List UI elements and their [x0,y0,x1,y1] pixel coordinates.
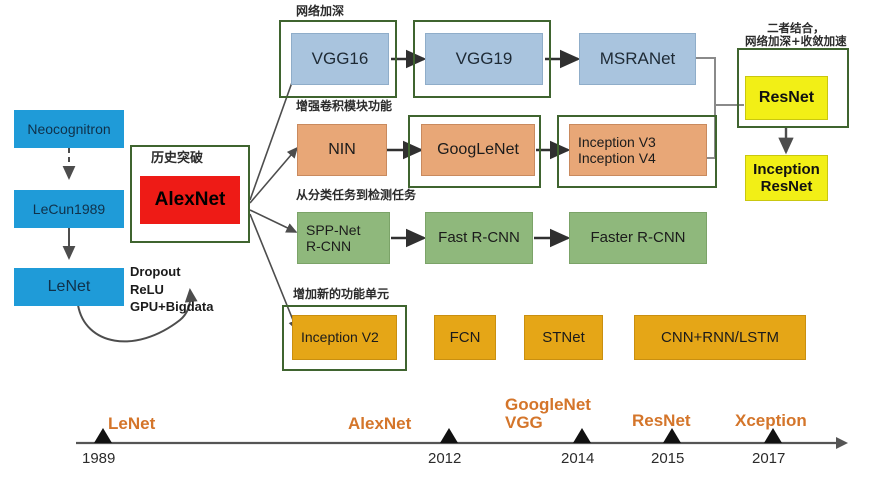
node-faster-rcnn[interactable]: Faster R-CNN [569,212,707,264]
node-neocognitron[interactable]: Neocognitron [14,110,124,148]
node-spp-net-rcnn[interactable]: SPP-Net R-CNN [297,212,390,264]
timeline-year-2014: 2014 [561,450,594,467]
timeline-axis-arrowhead [836,437,848,449]
node-lenet[interactable]: LeNet [14,268,124,306]
timeline-year-2015: 2015 [651,450,684,467]
node-cnn-rnn-lstm[interactable]: CNN+RNN/LSTM [634,315,806,360]
node-stnet[interactable]: STNet [524,315,603,360]
timeline-label-resnet: ResNet [632,412,691,430]
node-vgg16[interactable]: VGG16 [291,33,389,85]
branch-label-detection: 从分类任务到检测任务 [296,189,416,203]
node-msranet[interactable]: MSRANet [579,33,696,85]
branch-label-new-units: 增加新的功能单元 [293,288,389,302]
node-googlenet[interactable]: GoogLeNet [421,124,535,176]
timeline-marker-2012 [440,428,458,443]
node-alexnet[interactable]: AlexNet [140,176,240,224]
diagram-canvas: 网络加深 增强卷积模块功能 从分类任务到检测任务 增加新的功能单元 历史突破 二… [0,0,878,478]
group-label-historic-breakthrough: 历史突破 [151,152,203,167]
node-fast-rcnn[interactable]: Fast R-CNN [425,212,533,264]
node-inception-resnet[interactable]: Inception ResNet [745,155,828,201]
timeline-year-2012: 2012 [428,450,461,467]
timeline-label-alexnet: AlexNet [348,415,411,433]
branch-label-conv-module: 增强卷积模块功能 [296,100,392,114]
node-vgg19[interactable]: VGG19 [425,33,543,85]
timeline-label-lenet: LeNet [108,415,155,433]
timeline-marker-2017 [764,428,782,443]
timeline-year-2017: 2017 [752,450,785,467]
node-fcn[interactable]: FCN [434,315,496,360]
node-resnet[interactable]: ResNet [745,76,828,120]
timeline-marker-2015 [663,428,681,443]
annotation-combination: 二者结合， 网络加深+收敛加速 [745,22,847,48]
arrow-alexnet-nin [250,148,297,203]
node-nin[interactable]: NIN [297,124,387,176]
node-inception-v2[interactable]: Inception V2 [292,315,397,360]
timeline-label-xception: Xception [735,412,807,430]
branch-label-deepening: 网络加深 [296,5,344,19]
timeline-year-1989: 1989 [82,450,115,467]
node-inception-v3-v4[interactable]: Inception V3 Inception V4 [569,124,707,176]
timeline-label-googlenet-vgg: GoogleNet VGG [505,396,591,432]
arrow-alexnet-sppnet [250,210,296,232]
annotation-alexnet-contributions: Dropout ReLU GPU+Bigdata [130,263,213,316]
node-lecun1989[interactable]: LeCun1989 [14,190,124,228]
